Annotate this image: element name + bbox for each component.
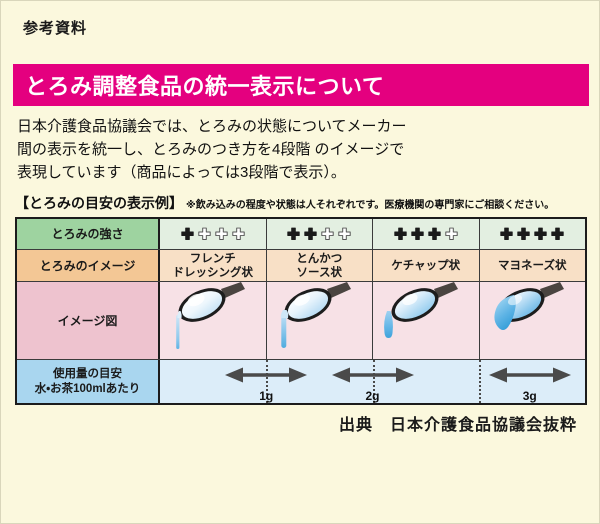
lead-line-3: 表現しています（商品によっては3段階で表示）。 — [17, 161, 587, 184]
chart-row-illustration: イメージ図 — [17, 281, 585, 359]
dose-arrow-2: 2g — [330, 367, 416, 397]
plus-icon — [214, 227, 229, 242]
strength-cell-1 — [160, 219, 266, 249]
image-name-4-line1: マヨネーズ状 — [498, 259, 566, 273]
image-name-cell-3: ケチャップ状 — [372, 250, 479, 281]
dose-divider-3 — [479, 360, 481, 403]
illustration-cell-3 — [372, 282, 479, 359]
page-title: とろみ調整食品の統一表示について — [25, 69, 384, 101]
image-name-cell-4: マヨネーズ状 — [479, 250, 586, 281]
illustration-cell-2 — [266, 282, 373, 359]
plus-icon — [393, 227, 408, 242]
strength-cells — [160, 219, 585, 249]
dose-arrow-3: 3g — [487, 367, 573, 397]
plus-icon — [516, 227, 531, 242]
dose-cells: 1g2g3g — [160, 360, 585, 403]
example-heading-label: 【とろみの目安の表示例】 — [15, 193, 183, 213]
image-name-cells: フレンチ ドレッシング状 とんかつ ソース状 ケチャップ状 — [160, 250, 585, 281]
source-citation: 出典 日本介護食品協議会抜粋 — [339, 411, 577, 435]
image-name-cell-1: フレンチ ドレッシング状 — [160, 250, 266, 281]
plus-rating-3 — [393, 227, 459, 242]
dose-arrow-label-3: 3g — [523, 389, 537, 403]
chart-row-strength: とろみの強さ — [17, 219, 585, 249]
double-arrow-icon — [223, 367, 309, 388]
spoon-thin-stream-icon — [165, 281, 261, 360]
page-kicker: 参考資料 — [23, 17, 87, 38]
double-arrow-icon — [330, 367, 416, 388]
strength-cell-2 — [266, 219, 373, 249]
plus-icon — [303, 227, 318, 242]
plus-icon — [231, 227, 246, 242]
plus-icon — [499, 227, 514, 242]
illustration-cell-4 — [479, 282, 586, 359]
chart-row-dose: 使用量の目安 水・お茶100mlあたり 1g2g3g — [17, 359, 585, 403]
row-label-dose-line2: 水・お茶100mlあたり — [35, 382, 141, 397]
reference-document-page: 参考資料 とろみ調整食品の統一表示について 日本介護食品協議会では、とろみの状態… — [0, 0, 600, 524]
image-name-2-line1: とんかつ — [296, 252, 342, 266]
thickness-chart: とろみの強さ とろみのイメージ — [15, 217, 587, 405]
lead-paragraph: 日本介護食品協議会では、とろみの状態についてメーカー 間の表示を統一し、とろみの… — [17, 115, 587, 184]
dose-arrow-1: 1g — [223, 367, 309, 397]
spoon-thick-stream-icon — [378, 281, 474, 360]
example-heading: 【とろみの目安の表示例】 ※飲み込みの程度や状態は人それぞれです。医療機関の専門… — [15, 193, 593, 213]
image-name-cell-2: とんかつ ソース状 — [266, 250, 373, 281]
plus-rating-4 — [499, 227, 565, 242]
example-heading-note: ※飲み込みの程度や状態は人それぞれです。医療機関の専門家にご相談ください。 — [186, 196, 554, 211]
dose-arrow-label-2: 2g — [365, 389, 379, 403]
plus-icon — [533, 227, 548, 242]
plus-icon — [337, 227, 352, 242]
plus-icon — [410, 227, 425, 242]
double-arrow-icon — [487, 367, 573, 388]
row-label-illustration: イメージ図 — [17, 282, 160, 359]
image-name-1-line1: フレンチ — [173, 252, 254, 266]
dose-arrow-label-1: 1g — [259, 389, 273, 403]
plus-icon — [320, 227, 335, 242]
row-label-image: とろみのイメージ — [17, 250, 160, 281]
chart-row-image-name: とろみのイメージ フレンチ ドレッシング状 とんかつ ソース状 ケ — [17, 249, 585, 281]
plus-icon — [197, 227, 212, 242]
plus-icon — [180, 227, 195, 242]
strength-cell-3 — [372, 219, 479, 249]
plus-icon — [550, 227, 565, 242]
image-name-2-line2: ソース状 — [296, 266, 342, 280]
plus-rating-1 — [180, 227, 246, 242]
spoon-blob-icon — [484, 281, 580, 360]
strength-cell-4 — [479, 219, 586, 249]
illustration-cells — [160, 282, 585, 359]
plus-icon — [286, 227, 301, 242]
row-label-strength: とろみの強さ — [17, 219, 160, 249]
plus-icon — [444, 227, 459, 242]
row-label-dose-line1: 使用量の目安 — [35, 367, 141, 382]
image-name-3-line1: ケチャップ状 — [391, 259, 460, 273]
plus-rating-2 — [286, 227, 352, 242]
illustration-cell-1 — [160, 282, 266, 359]
spoon-medium-stream-icon — [271, 281, 367, 360]
plus-icon — [427, 227, 442, 242]
title-banner: とろみ調整食品の統一表示について — [13, 64, 589, 106]
lead-line-1: 日本介護食品協議会では、とろみの状態についてメーカー — [17, 115, 587, 138]
row-label-dose: 使用量の目安 水・お茶100mlあたり — [17, 360, 160, 403]
image-name-1-line2: ドレッシング状 — [173, 266, 254, 280]
lead-line-2: 間の表示を統一し、とろみのつき方を4段階 のイメージで — [17, 138, 587, 161]
